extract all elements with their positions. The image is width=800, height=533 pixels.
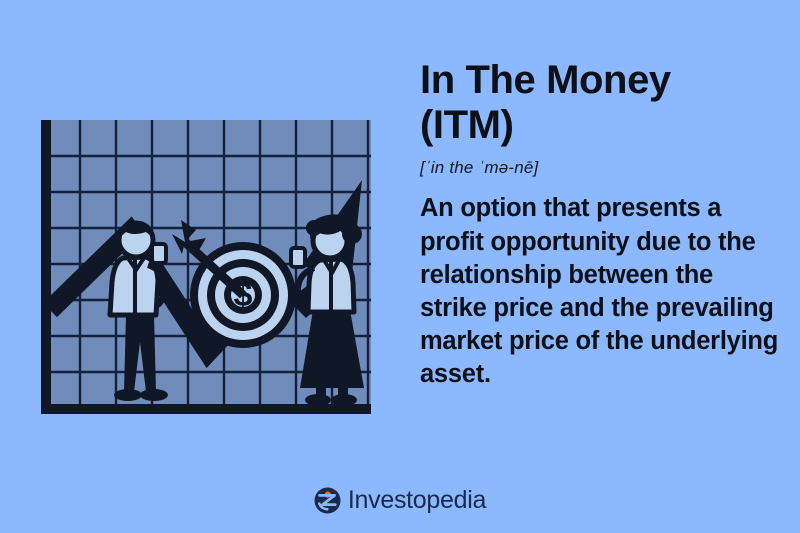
stock-chart-illustration: $	[30, 110, 395, 425]
definition-text: An option that presents a profit opportu…	[420, 192, 785, 391]
pronunciation: [ˈin the ˈmə-nē]	[420, 158, 785, 178]
text-column: In The Money(ITM) [ˈin the ˈmə-nē] An op…	[420, 58, 785, 391]
y-axis	[41, 120, 51, 414]
title-line-1: In The Money	[420, 58, 671, 102]
page-title: In The Money(ITM)	[420, 58, 785, 148]
title-line-2: (ITM)	[420, 103, 514, 147]
phone-icon	[291, 248, 305, 267]
illustration: $	[30, 110, 395, 425]
investopedia-wordmark: Investopedia	[348, 488, 486, 513]
definition-card: $	[0, 0, 800, 533]
investopedia-logo[interactable]: Investopedia	[0, 487, 800, 514]
phone-icon	[152, 244, 166, 263]
investopedia-logo-icon	[314, 487, 341, 514]
